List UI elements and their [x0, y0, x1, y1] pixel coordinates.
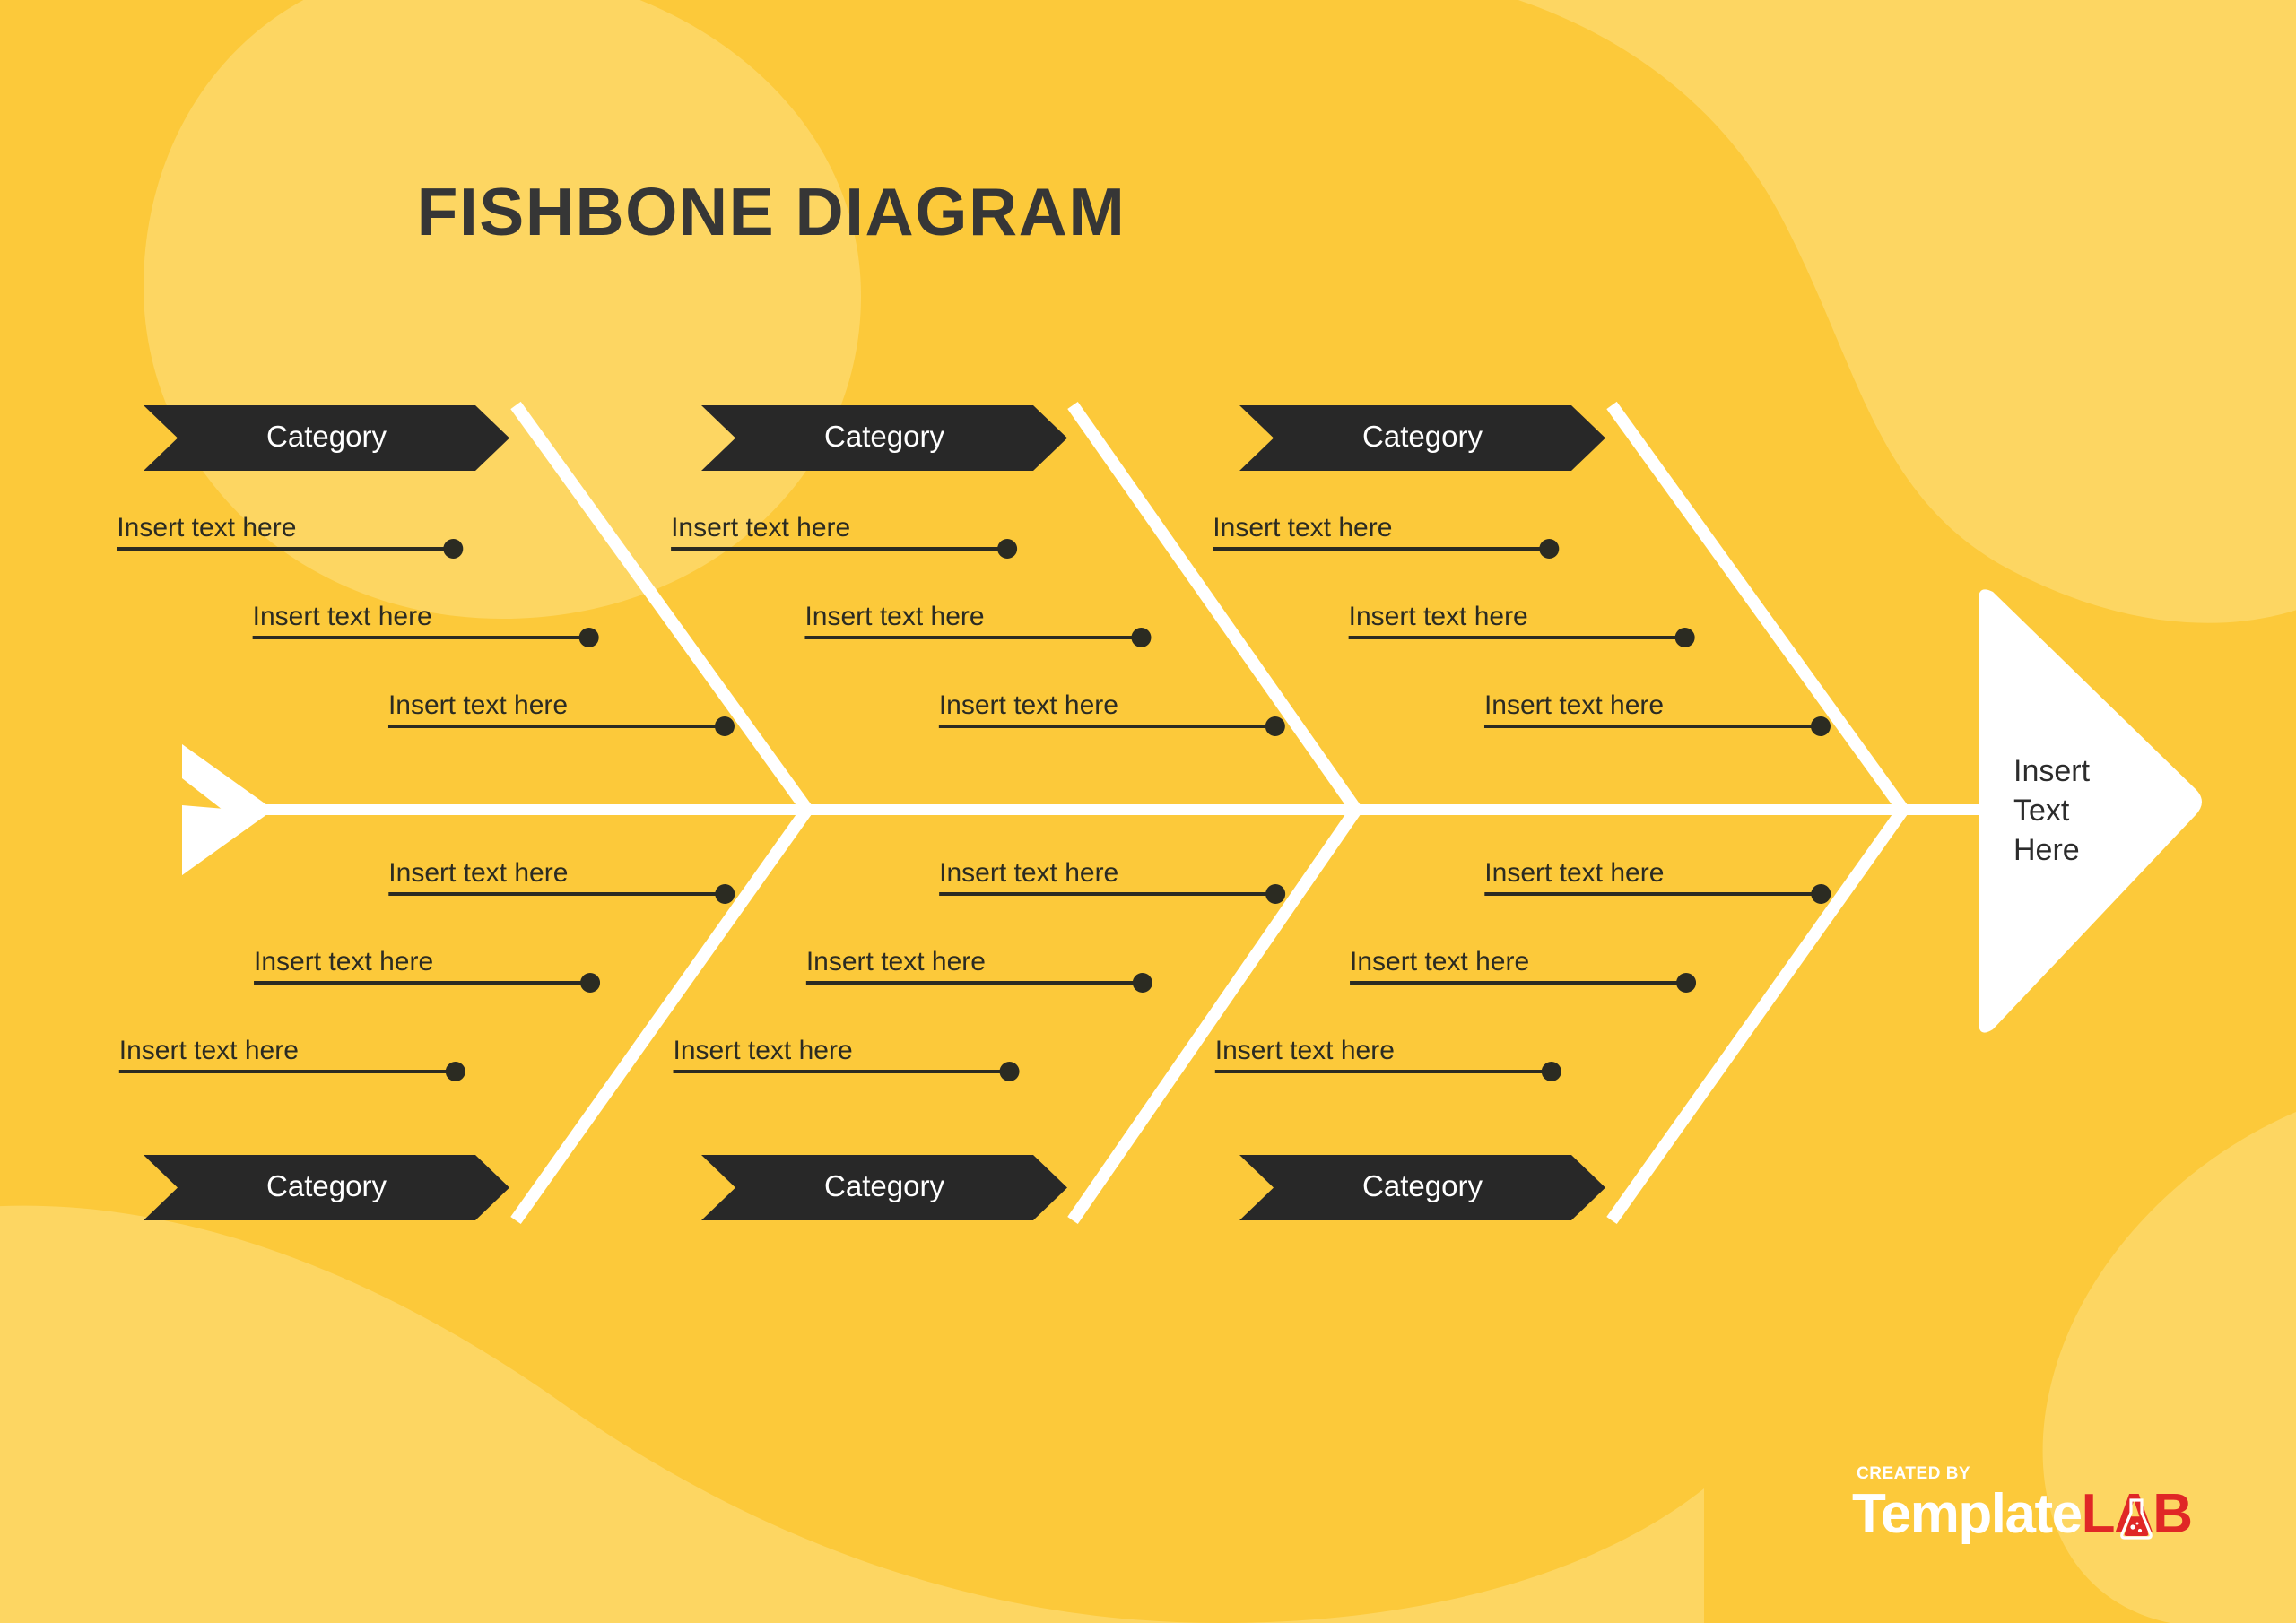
cause-label[interactable]: Insert text here	[388, 690, 568, 721]
cause-label[interactable]: Insert text here	[1215, 1036, 1395, 1066]
cause-dot	[446, 1062, 465, 1081]
cause-dot	[1131, 628, 1151, 647]
cause-dot	[1539, 539, 1559, 559]
category-bone	[1612, 405, 1903, 810]
cause-dot	[579, 628, 599, 647]
head-label-line-3: Here	[2013, 830, 2211, 870]
logo-created-by-text: CREATED BY	[1857, 1464, 1970, 1484]
head-label-line-2: Text	[2013, 791, 2211, 830]
category-label-bottom-right: Category	[1274, 1169, 1571, 1203]
cause-dot	[580, 973, 600, 993]
cause-label[interactable]: Insert text here	[1484, 858, 1664, 889]
flask-bubble-1	[2130, 1524, 2135, 1529]
cause-label[interactable]: Insert text here	[671, 513, 850, 543]
flask-bubble-2	[2138, 1529, 2142, 1532]
cause-dot	[715, 716, 735, 736]
head-label-line-1: Insert	[2013, 751, 2211, 791]
category-label-bottom-left: Category	[178, 1169, 475, 1203]
cause-dot	[1000, 1062, 1020, 1081]
cause-label[interactable]: Insert text here	[254, 947, 433, 977]
cause-dot	[1811, 884, 1831, 904]
cause-label[interactable]: Insert text here	[253, 602, 432, 632]
cause-dot	[1542, 1062, 1561, 1081]
category-label-top-left: Category	[178, 420, 475, 454]
cause-dot	[1811, 716, 1831, 736]
cause-dot	[1265, 716, 1285, 736]
cause-dot	[1675, 628, 1695, 647]
cause-label[interactable]: Insert text here	[674, 1036, 853, 1066]
cause-dot	[1676, 973, 1696, 993]
cause-label[interactable]: Insert text here	[1350, 947, 1529, 977]
head-label: Insert Text Here	[2013, 751, 2211, 870]
templatelab-logo[interactable]: CREATED BY TemplateLAB	[1852, 1464, 2193, 1558]
cause-dot	[1133, 973, 1152, 993]
flask-bubble-3	[2136, 1523, 2139, 1525]
category-label-bottom-center: Category	[735, 1169, 1033, 1203]
cause-dot	[1265, 884, 1285, 904]
cause-label[interactable]: Insert text here	[804, 602, 984, 632]
fishbone-diagram-canvas: FISHBONE DIAGRAM CategoryInsert text her…	[0, 0, 2296, 1623]
cause-label[interactable]: Insert text here	[939, 690, 1118, 721]
page-title: FISHBONE DIAGRAM	[0, 173, 1543, 250]
category-label-top-center: Category	[735, 420, 1033, 454]
cause-dot	[997, 539, 1017, 559]
cause-label[interactable]: Insert text here	[806, 947, 986, 977]
cause-label[interactable]: Insert text here	[1213, 513, 1392, 543]
cause-label[interactable]: Insert text here	[1484, 690, 1664, 721]
cause-label[interactable]: Insert text here	[939, 858, 1118, 889]
cause-dot	[443, 539, 463, 559]
cause-label[interactable]: Insert text here	[119, 1036, 299, 1066]
category-label-top-right: Category	[1274, 420, 1571, 454]
cause-dot	[715, 884, 735, 904]
spine-line	[229, 804, 1988, 815]
cause-label[interactable]: Insert text here	[1349, 602, 1528, 632]
flask-icon	[2118, 1497, 2155, 1541]
cause-label[interactable]: Insert text here	[117, 513, 296, 543]
logo-template-text: Template	[1852, 1483, 2082, 1545]
cause-label[interactable]: Insert text here	[388, 858, 568, 889]
